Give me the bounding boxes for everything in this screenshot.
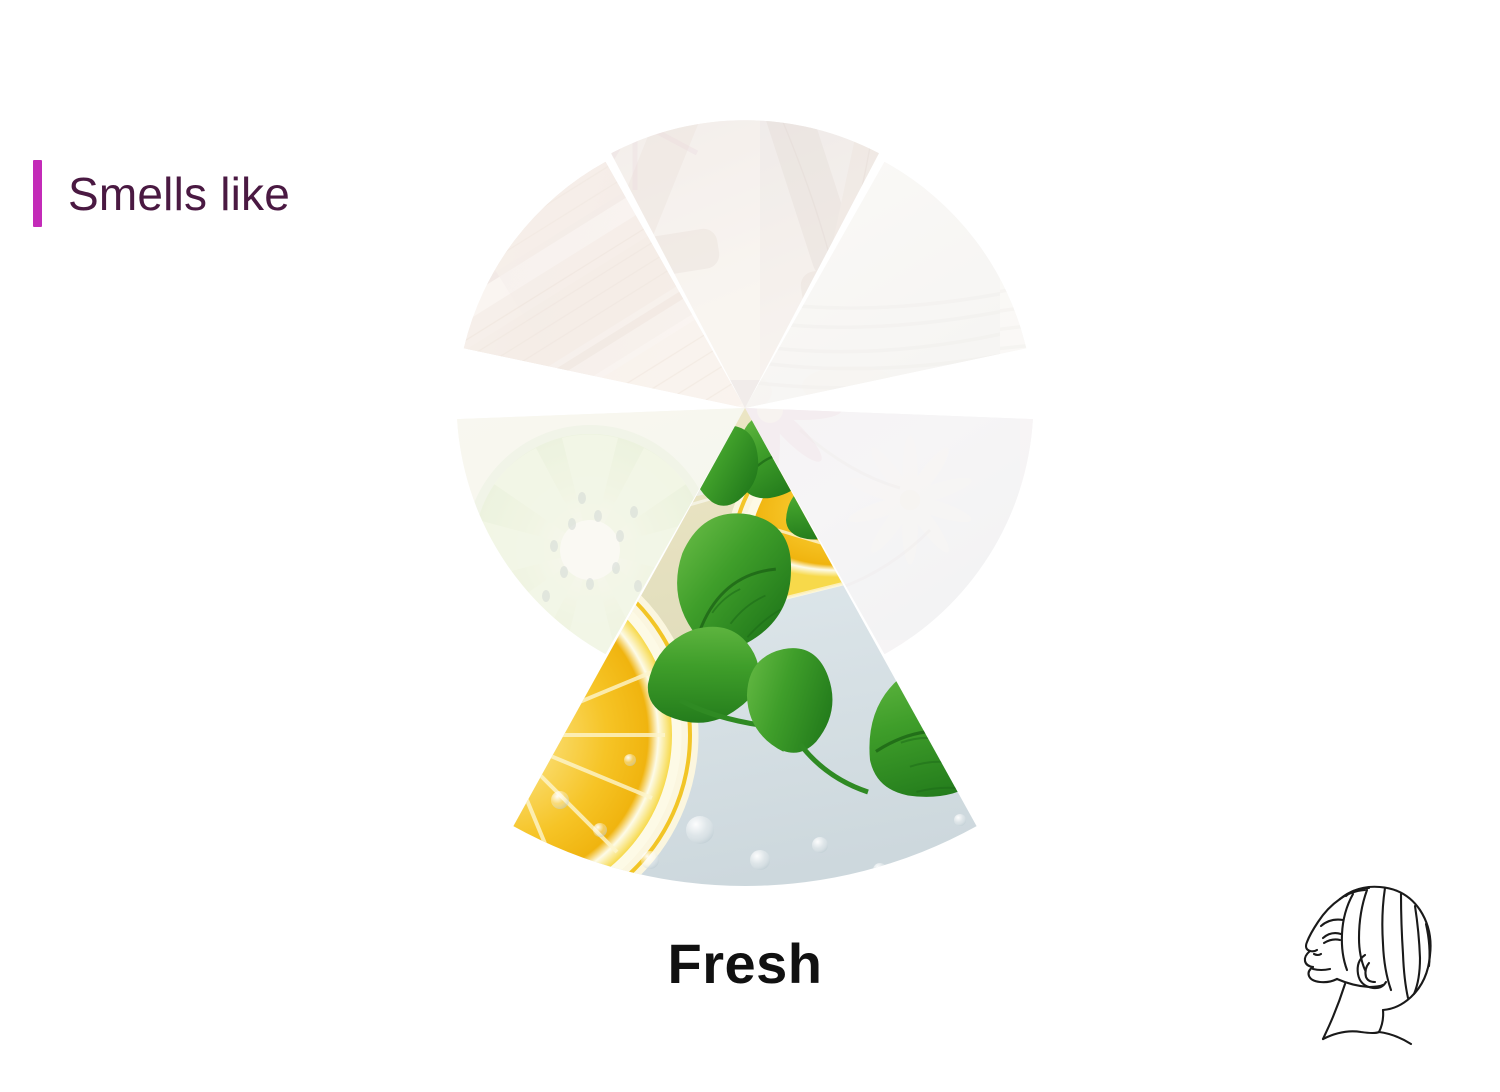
pie-wheel-svg: be St: [0, 0, 1500, 1092]
smelling-face-icon: [1283, 866, 1468, 1051]
svg-text:be St: be St: [990, 670, 1102, 722]
smelling-face-icon-svg: [1283, 866, 1468, 1051]
scent-wheel-chart: be St: [0, 0, 1500, 1092]
pie-slice-fresh-highlighted[interactable]: be St: [310, 358, 1170, 925]
selected-category-label: Fresh: [668, 931, 823, 996]
